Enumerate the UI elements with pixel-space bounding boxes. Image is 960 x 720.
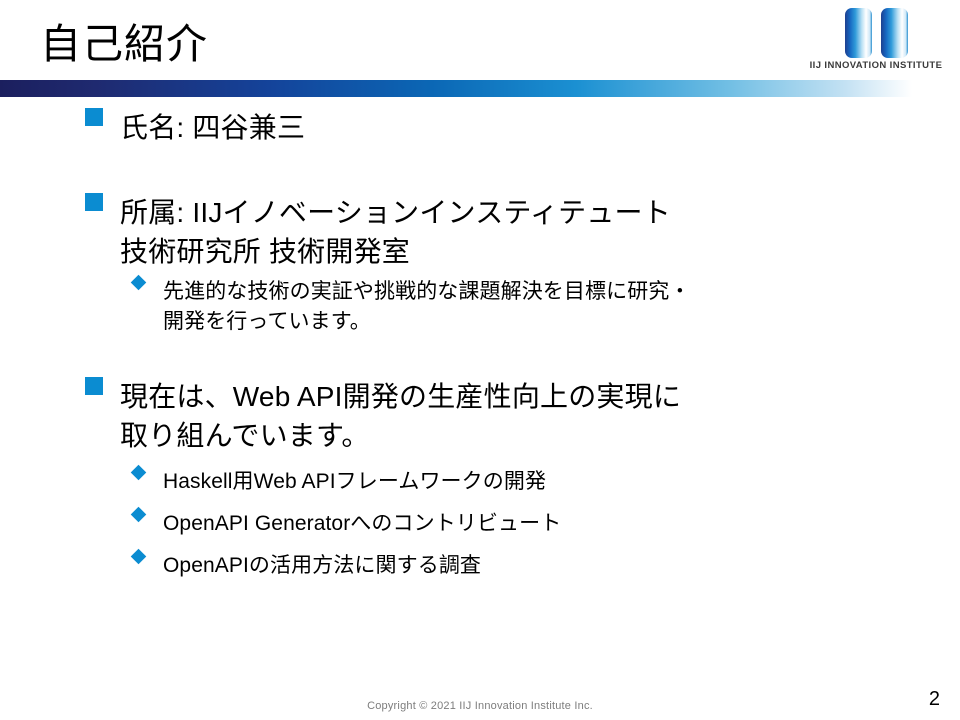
bullet-item-current-work: 現在は、Web API開発の生産性向上の実現に 取り組んでいます。: [0, 377, 960, 455]
diamond-bullet-icon: [131, 549, 147, 565]
sub-bullet-line: OpenAPIの活用方法に関する調査: [163, 551, 960, 581]
spacer: [0, 497, 960, 509]
square-bullet-icon: [85, 108, 103, 126]
sub-bullet-line: Haskell用Web APIフレームワークの開発: [163, 467, 960, 497]
sub-bullet-item-haskell-framework: Haskell用Web APIフレームワークの開発: [0, 467, 960, 497]
title-divider-gradient-bar: [0, 80, 960, 97]
bullet-text: 現在は、Web API開発の生産性向上の実現に 取り組んでいます。: [120, 377, 960, 455]
logo-wordmark: IIJ INNOVATION INSTITUTE: [800, 60, 952, 71]
bullet-line: 所属: IIJイノベーションインスティテュート: [120, 193, 960, 232]
sub-bullet-line: 先進的な技術の実証や挑戦的な課題解決を目標に研究・: [163, 277, 960, 307]
bullet-line: 現在は、Web API開発の生産性向上の実現に: [120, 377, 960, 416]
spacer: [0, 455, 960, 467]
diamond-bullet-icon: [131, 275, 147, 291]
page-number: 2: [929, 688, 940, 711]
sub-bullet-item-research-mission: 先進的な技術の実証や挑戦的な課題解決を目標に研究・ 開発を行っています。: [0, 277, 960, 337]
spacer: [0, 337, 960, 377]
spacer: [0, 539, 960, 551]
logo-bar-right-icon: [881, 8, 908, 58]
diamond-bullet-icon: [131, 507, 147, 523]
bullet-line: 取り組んでいます。: [120, 416, 960, 455]
square-bullet-icon: [85, 193, 103, 211]
bullet-item-name: 氏名: 四谷兼三: [0, 108, 960, 147]
bullet-line: 技術研究所 技術開発室: [120, 232, 960, 271]
bullet-item-affiliation: 所属: IIJイノベーションインスティテュート 技術研究所 技術開発室: [0, 193, 960, 271]
sub-bullet-line: OpenAPI Generatorへのコントリビュート: [163, 509, 960, 539]
sub-bullet-item-openapi-generator: OpenAPI Generatorへのコントリビュート: [0, 509, 960, 539]
slide-body: 氏名: 四谷兼三 所属: IIJイノベーションインスティテュート 技術研究所 技…: [0, 108, 960, 581]
footer-copyright: Copyright © 2021 IIJ Innovation Institut…: [0, 700, 960, 712]
bullet-text: 所属: IIJイノベーションインスティテュート 技術研究所 技術開発室: [120, 193, 960, 271]
sub-bullet-text: Haskell用Web APIフレームワークの開発: [163, 467, 960, 497]
bullet-line: 氏名: 四谷兼三: [120, 108, 960, 147]
diamond-bullet-icon: [131, 465, 147, 481]
sub-bullet-text: 先進的な技術の実証や挑戦的な課題解決を目標に研究・ 開発を行っています。: [163, 277, 960, 337]
sub-bullet-line: 開発を行っています。: [163, 307, 960, 337]
slide-canvas: 自己紹介 IIJ INNOVATION INSTITUTE 氏名: 四谷兼三 所…: [0, 0, 960, 720]
page-title: 自己紹介: [40, 18, 208, 70]
sub-bullet-text: OpenAPI Generatorへのコントリビュート: [163, 509, 960, 539]
sub-bullet-item-openapi-research: OpenAPIの活用方法に関する調査: [0, 551, 960, 581]
iij-innovation-institute-logo: IIJ INNOVATION INSTITUTE: [800, 8, 952, 76]
square-bullet-icon: [85, 377, 103, 395]
sub-bullet-text: OpenAPIの活用方法に関する調査: [163, 551, 960, 581]
logo-bars-icon: [845, 8, 911, 58]
bullet-text: 氏名: 四谷兼三: [120, 108, 960, 147]
logo-bar-left-icon: [845, 8, 872, 58]
spacer: [0, 147, 960, 193]
